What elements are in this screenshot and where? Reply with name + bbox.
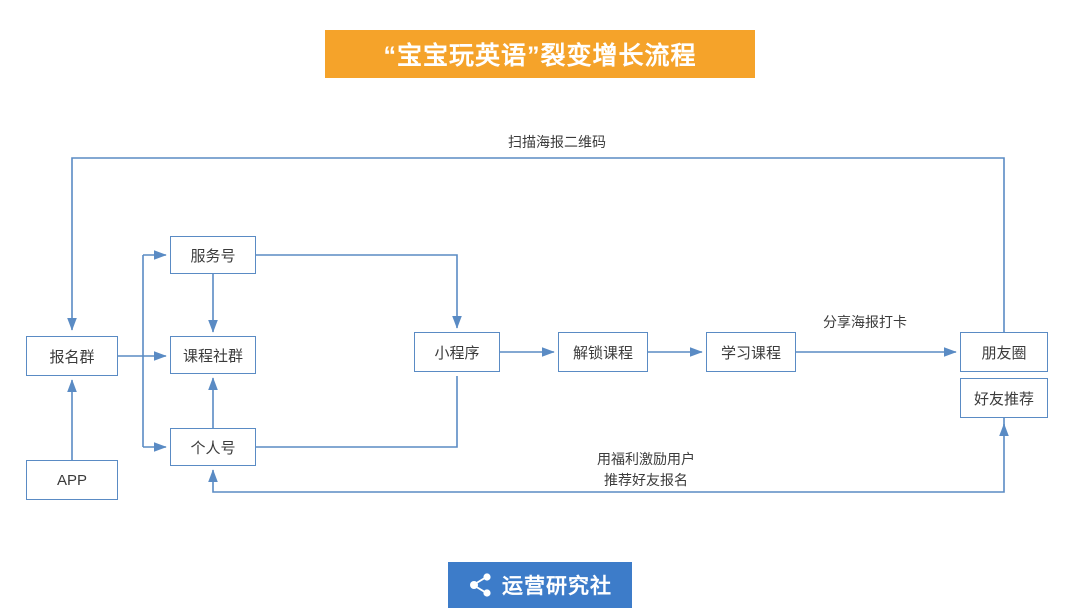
page-title: “宝宝玩英语”裂变增长流程 [383, 36, 696, 72]
connector-layer [0, 0, 1080, 608]
node-label: 服务号 [190, 245, 235, 266]
node-label: 解锁课程 [573, 342, 633, 363]
node-fuwuhao[interactable]: 服务号 [170, 236, 256, 274]
node-label: 朋友圈 [981, 342, 1026, 363]
node-pengyouquan[interactable]: 朋友圈 [960, 332, 1048, 372]
page-title-banner: “宝宝玩英语”裂变增长流程 [325, 30, 755, 78]
node-kecheng-shequn[interactable]: 课程社群 [170, 336, 256, 374]
node-label: 报名群 [49, 346, 94, 367]
node-label: APP [57, 472, 87, 489]
diagram-canvas: “宝宝玩英语”裂变增长流程 报名群 APP 服务号 课程社群 个人号 小程序 解… [0, 0, 1080, 608]
node-baoming-qun[interactable]: 报名群 [26, 336, 118, 376]
node-xiaochengxu[interactable]: 小程序 [414, 332, 500, 372]
node-label: 个人号 [190, 437, 235, 458]
share-node-icon [468, 572, 494, 598]
node-label: 好友推荐 [974, 388, 1034, 409]
node-xuexi-kecheng[interactable]: 学习课程 [706, 332, 796, 372]
edge-label-scan-poster: 扫描海报二维码 [508, 132, 606, 153]
footer-brand-name: 运营研究社 [502, 570, 612, 600]
edge-label-welfare-line1: 用福利激励用户 [597, 449, 695, 470]
node-jiesuo-kecheng[interactable]: 解锁课程 [558, 332, 648, 372]
footer-logo: 运营研究社 [448, 562, 632, 608]
edge-label-share-poster: 分享海报打卡 [823, 312, 907, 333]
node-label: 学习课程 [721, 342, 781, 363]
node-gerenhao[interactable]: 个人号 [170, 428, 256, 466]
node-label: 课程社群 [183, 345, 243, 366]
edge-label-welfare-line2: 推荐好友报名 [604, 470, 688, 491]
node-app[interactable]: APP [26, 460, 118, 500]
node-haoyou-tuijian[interactable]: 好友推荐 [960, 378, 1048, 418]
node-label: 小程序 [434, 342, 479, 363]
